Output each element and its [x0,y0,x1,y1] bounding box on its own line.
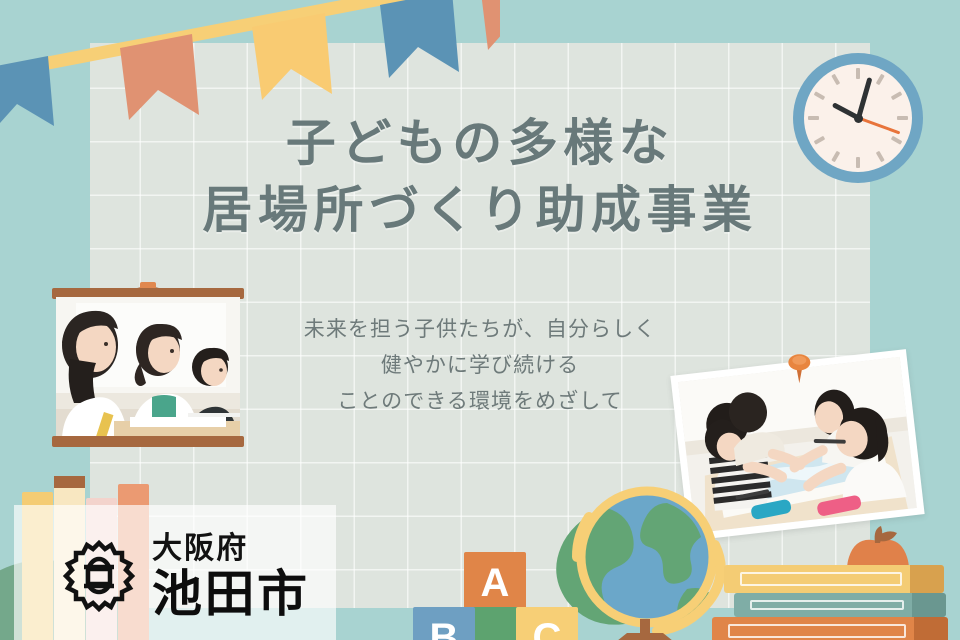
clock-tick [831,74,840,86]
book-yellow [724,565,944,593]
page-title: 子どもの多様な 居場所づくり助成事業 [0,110,960,244]
alphabet-block-a: A [464,552,526,614]
title-line-1: 子どもの多様な [0,110,960,177]
block-letter: C [533,618,562,640]
block-letter: B [430,618,459,640]
title-line-2: 居場所づくり助成事業 [0,177,960,244]
city-logo-text: 大阪府 池田市 [152,533,342,621]
book-stack [700,565,960,640]
city-label: 池田市 [152,567,342,621]
prefecture-label: 大阪府 [152,533,342,565]
pushpin-icon [786,353,812,383]
city-logo-panel: 大阪府 池田市 [14,505,336,640]
clock-tick [856,68,860,79]
clock-tick [891,91,903,100]
ikeda-city-crest-icon [62,539,136,613]
book-orange [712,617,948,640]
alphabet-block-c: C [516,607,578,640]
clock-tick [876,74,885,86]
pencil-tip [54,476,85,488]
block-letter: A [481,563,510,603]
alphabet-block-b: B [413,607,475,640]
classroom-students-photo [52,266,244,452]
clock-tick [814,91,826,100]
photo-image-left [56,297,240,438]
book-teal [734,593,946,617]
poster-canvas: 子どもの多様な 居場所づくり助成事業 未来を担う子供たちが、自分らしく 健やかに… [0,0,960,640]
scroll-rod-bottom [52,436,244,447]
